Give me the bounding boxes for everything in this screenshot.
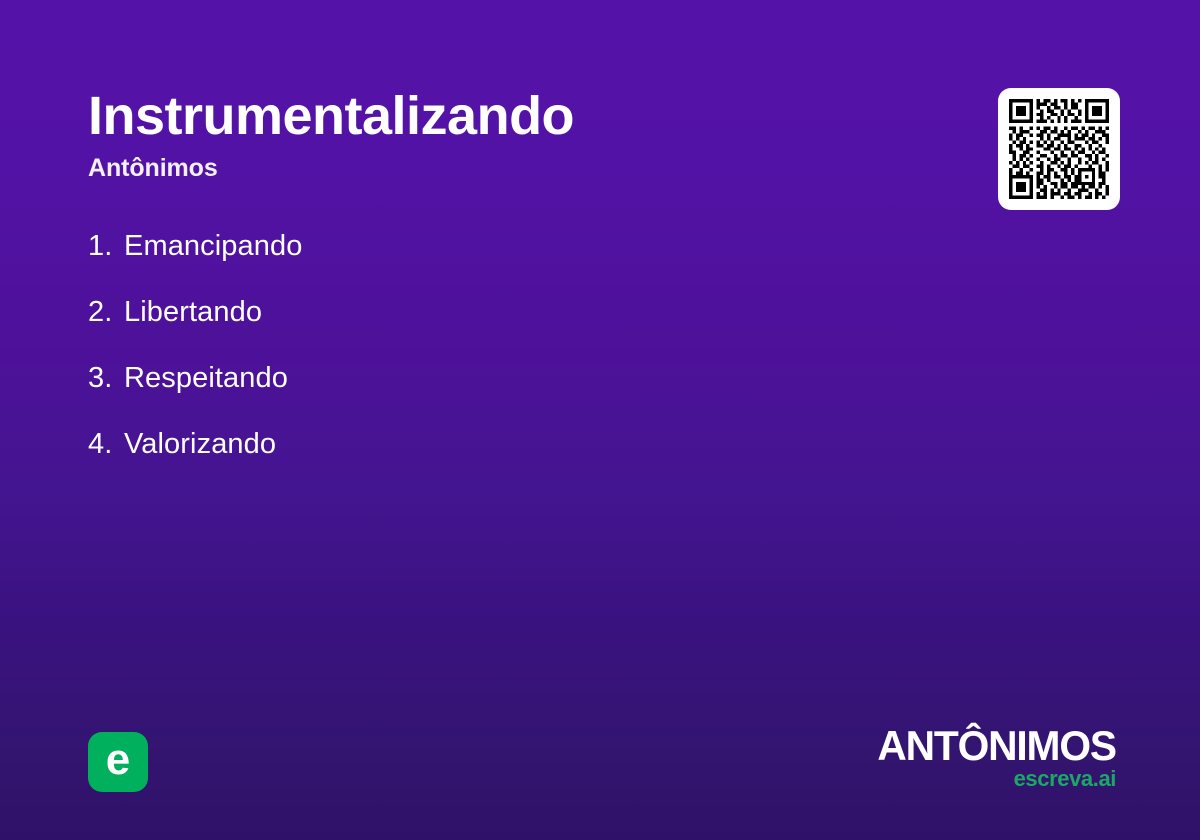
escreva-logo-icon: e [88, 732, 148, 792]
list-item-word: Emancipando [124, 232, 302, 261]
page-subtitle: Antônimos [88, 155, 948, 183]
slide-header: Instrumentalizando Antônimos [88, 88, 948, 183]
list-item-word: Respeitando [124, 364, 288, 393]
list-item-word: Valorizando [124, 430, 276, 459]
list-item-index: 3. [88, 364, 124, 393]
page-title: Instrumentalizando [88, 88, 948, 145]
list-item: 3. Respeitando [88, 364, 908, 430]
list-item: 4. Valorizando [88, 430, 908, 496]
brand-mark-letter: e [106, 738, 130, 782]
brand-wordmark-container: ANTÔNIMOS escreva.ai [870, 726, 1116, 790]
brand-domain: escreva.ai [870, 768, 1116, 790]
list-item-index: 2. [88, 298, 124, 327]
list-item-index: 1. [88, 232, 124, 261]
list-item-index: 4. [88, 430, 124, 459]
list-item: 2. Libertando [88, 298, 908, 364]
slide-canvas: Instrumentalizando Antônimos [0, 0, 1200, 840]
qr-code-card[interactable] [998, 88, 1120, 210]
list-item-word: Libertando [124, 298, 262, 327]
list-item: 1. Emancipando [88, 232, 908, 298]
antonyms-list: 1. Emancipando 2. Libertando 3. Respeita… [88, 232, 908, 496]
brand-wordmark: ANTÔNIMOS [878, 726, 1116, 766]
brand-mark-container: e [88, 732, 148, 792]
qr-code-icon [1009, 99, 1109, 199]
